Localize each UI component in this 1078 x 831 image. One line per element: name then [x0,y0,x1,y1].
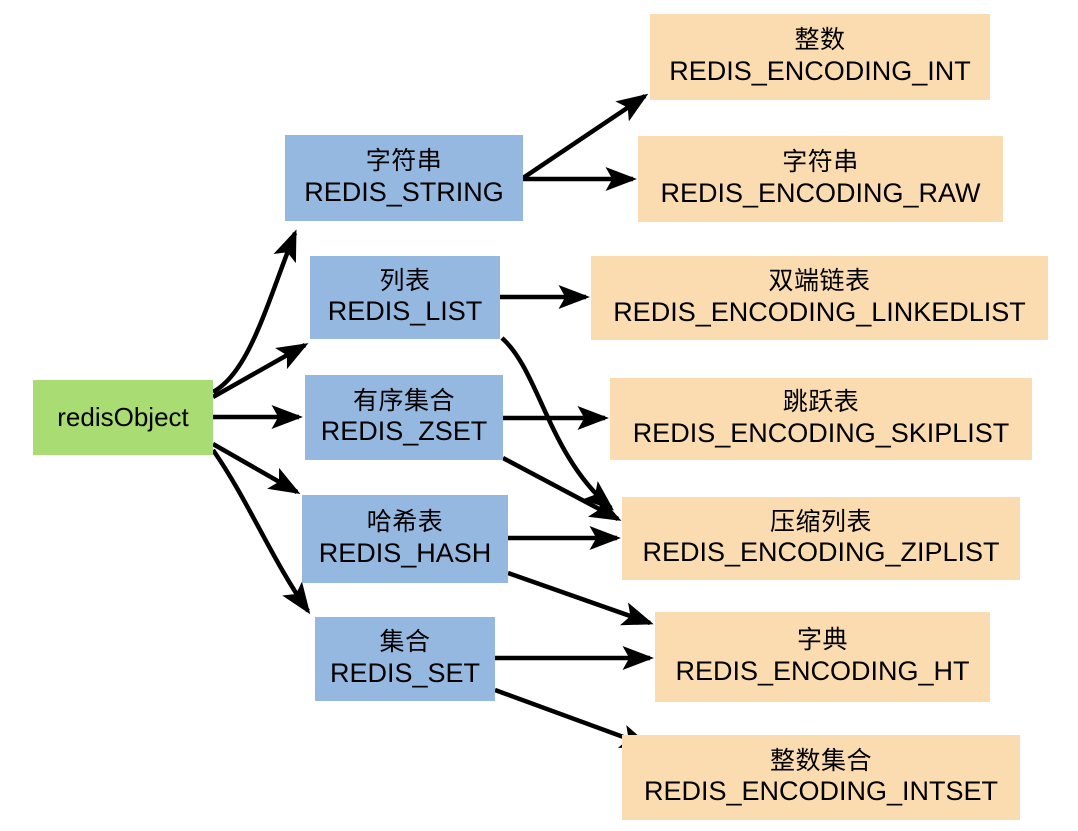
node-redis-set[interactable]: 集合 REDIS_SET [315,617,495,701]
node-encoding-ziplist-en: REDIS_ENCODING_ZIPLIST [642,537,999,569]
node-redis-hash-cn: 哈希表 [367,508,444,538]
node-encoding-ht[interactable]: 字典 REDIS_ENCODING_HT [655,612,990,702]
node-redis-zset-cn: 有序集合 [353,387,455,417]
node-redis-list-cn: 列表 [379,267,430,297]
diagram-canvas: redisObject 字符串 REDIS_STRING 列表 REDIS_LI… [0,0,1078,831]
node-redis-hash[interactable]: 哈希表 REDIS_HASH [302,495,508,583]
node-redis-object[interactable]: redisObject [33,380,213,455]
node-encoding-linkedlist[interactable]: 双端链表 REDIS_ENCODING_LINKEDLIST [591,256,1048,340]
node-encoding-ht-cn: 字典 [797,626,848,656]
node-redis-list-en: REDIS_LIST [328,296,483,328]
node-encoding-intset-en: REDIS_ENCODING_INTSET [644,776,998,808]
node-redis-zset-en: REDIS_ZSET [321,416,488,448]
node-encoding-raw-cn: 字符串 [782,148,859,178]
node-redis-object-label: redisObject [57,402,189,433]
node-encoding-skiplist[interactable]: 跳跃表 REDIS_ENCODING_SKIPLIST [610,378,1032,460]
edge-root-to-list [213,345,305,397]
node-encoding-int[interactable]: 整数 REDIS_ENCODING_INT [650,14,990,100]
node-encoding-skiplist-en: REDIS_ENCODING_SKIPLIST [633,418,1010,450]
node-redis-zset[interactable]: 有序集合 REDIS_ZSET [305,375,503,460]
node-encoding-intset-cn: 整数集合 [770,747,872,777]
edge-hash-to-ht [508,573,650,623]
node-encoding-ziplist[interactable]: 压缩列表 REDIS_ENCODING_ZIPLIST [622,497,1020,580]
edge-zset-to-ziplist [503,458,618,519]
edge-string-to-int [523,96,645,178]
node-encoding-ziplist-cn: 压缩列表 [770,508,872,538]
node-encoding-int-en: REDIS_ENCODING_INT [669,56,971,88]
node-encoding-int-cn: 整数 [794,26,845,56]
edge-root-to-string [213,233,295,392]
node-redis-set-en: REDIS_SET [330,658,480,690]
node-encoding-skiplist-cn: 跳跃表 [783,388,860,418]
node-redis-list[interactable]: 列表 REDIS_LIST [310,256,500,339]
node-redis-hash-en: REDIS_HASH [319,538,492,570]
node-encoding-linkedlist-en: REDIS_ENCODING_LINKEDLIST [613,297,1026,329]
node-encoding-linkedlist-cn: 双端链表 [768,267,870,297]
node-encoding-raw[interactable]: 字符串 REDIS_ENCODING_RAW [638,136,1003,222]
node-redis-string[interactable]: 字符串 REDIS_STRING [285,135,523,221]
node-redis-string-en: REDIS_STRING [304,177,504,209]
edge-root-to-set [213,450,308,611]
node-encoding-intset[interactable]: 整数集合 REDIS_ENCODING_INTSET [622,735,1020,820]
node-redis-string-cn: 字符串 [366,147,443,177]
node-encoding-ht-en: REDIS_ENCODING_HT [675,656,969,688]
node-redis-set-cn: 集合 [379,628,430,658]
edge-list-to-ziplist [502,338,611,508]
node-encoding-raw-en: REDIS_ENCODING_RAW [660,178,980,210]
edge-root-to-hash [213,444,297,492]
